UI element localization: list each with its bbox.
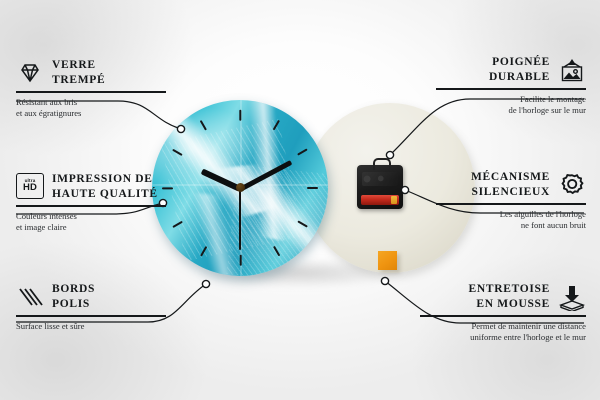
feature-rule — [436, 88, 586, 89]
feature-title: ENTRETOISE EN MOUSSE — [469, 282, 550, 311]
feature-desc-line1: Couleurs intenses — [16, 211, 166, 223]
feature-title-line1: BORDS — [52, 282, 95, 297]
feature-desc-line1: Facilite le montage — [436, 94, 586, 106]
feature-rule — [436, 203, 586, 204]
feature-title: BORDS POLIS — [52, 282, 95, 311]
feature-title-line2: HAUTE QUALITÉ — [52, 187, 158, 202]
feature-title: MÉCANISME SILENCIEUX — [471, 170, 550, 199]
feature-rule — [16, 91, 166, 92]
feature-description: Couleurs intenses et image claire — [16, 211, 166, 234]
picture-hanger-icon — [558, 56, 586, 84]
feature-desc-line1: Permet de maintenir une distance — [420, 321, 586, 333]
feature-mecanisme-silencieux: MÉCANISME SILENCIEUX Les aiguilles de l'… — [436, 170, 586, 232]
feature-desc-line2: uniforme entre l'horloge et le mur — [420, 332, 586, 344]
gear-icon — [558, 171, 586, 199]
feature-header: BORDS POLIS — [16, 282, 166, 311]
connector-dot-verre — [177, 125, 184, 132]
feature-title-line2: DURABLE — [489, 70, 550, 85]
feature-title-line2: SILENCIEUX — [471, 185, 550, 200]
feature-desc-line2: et image claire — [16, 222, 166, 234]
feature-title-line2: EN MOUSSE — [469, 297, 550, 312]
connector-dot-entretoise — [381, 277, 388, 284]
feature-description: Facilite le montage de l'horloge sur le … — [436, 94, 586, 117]
feature-description: Les aiguilles de l'horloge ne font aucun… — [436, 209, 586, 232]
feature-desc-line2: de l'horloge sur le mur — [436, 105, 586, 117]
feature-poignee-durable: POIGNÉE DURABLE Facilite le montage de l… — [436, 55, 586, 117]
infographic-canvas: VERRE TREMPÉ Résistant aux bris et aux é… — [0, 0, 600, 400]
feature-desc-line1: Résistant aux bris — [16, 97, 166, 109]
polished-edges-icon — [16, 283, 44, 311]
feature-title-line1: ENTRETOISE — [469, 282, 550, 297]
feature-header: POIGNÉE DURABLE — [436, 55, 586, 84]
ultra-hd-icon: ultra HD — [16, 173, 44, 201]
connector-dot-bords — [202, 280, 209, 287]
feature-bords-polis: BORDS POLIS Surface lisse et sûre — [16, 282, 166, 332]
feature-desc-line2: et aux égratignures — [16, 108, 166, 120]
feature-title-line1: VERRE — [52, 58, 105, 73]
feature-title-line2: POLIS — [52, 297, 95, 312]
feature-desc-line1: Surface lisse et sûre — [16, 321, 166, 333]
feature-title-line2: TREMPÉ — [52, 73, 105, 88]
feature-description: Permet de maintenir une distance uniform… — [420, 321, 586, 344]
feature-header: ultra HD IMPRESSION DE HAUTE QUALITÉ — [16, 172, 166, 201]
feature-header: ENTRETOISE EN MOUSSE — [420, 282, 586, 311]
feature-title: POIGNÉE DURABLE — [489, 55, 550, 84]
feature-title: IMPRESSION DE HAUTE QUALITÉ — [52, 172, 158, 201]
feature-header: VERRE TREMPÉ — [16, 58, 166, 87]
feature-title-line1: MÉCANISME — [471, 170, 550, 185]
diamond-icon — [16, 59, 44, 87]
connector-dot-mecanisme — [401, 186, 408, 193]
feature-impression-haute-qualite: ultra HD IMPRESSION DE HAUTE QUALITÉ Cou… — [16, 172, 166, 234]
connector-dot-poignee — [386, 151, 393, 158]
foam-spacer-icon — [558, 283, 586, 311]
feature-title-line1: IMPRESSION DE — [52, 172, 158, 187]
feature-title: VERRE TREMPÉ — [52, 58, 105, 87]
feature-title-line1: POIGNÉE — [489, 55, 550, 70]
feature-desc-line2: ne font aucun bruit — [436, 220, 586, 232]
feature-entretoise-en-mousse: ENTRETOISE EN MOUSSE Permet de maintenir… — [420, 282, 586, 344]
feature-header: MÉCANISME SILENCIEUX — [436, 170, 586, 199]
ultra-hd-large-label: HD — [23, 183, 37, 193]
feature-verre-trempe: VERRE TREMPÉ Résistant aux bris et aux é… — [16, 58, 166, 120]
feature-description: Surface lisse et sûre — [16, 321, 166, 333]
feature-description: Résistant aux bris et aux égratignures — [16, 97, 166, 120]
feature-rule — [16, 315, 166, 316]
feature-rule — [16, 205, 166, 206]
feature-rule — [420, 315, 586, 316]
feature-desc-line1: Les aiguilles de l'horloge — [436, 209, 586, 221]
